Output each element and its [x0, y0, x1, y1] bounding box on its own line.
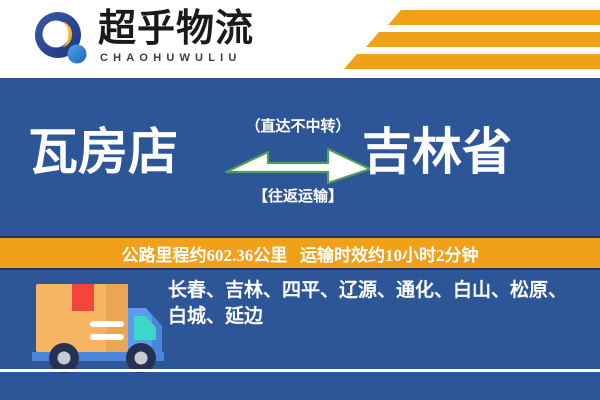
stripe-1 [388, 10, 600, 25]
route-row: 瓦房店 （直达不中转） 【往返运输】 吉林省 [0, 106, 600, 216]
delivery-truck-icon [28, 276, 168, 380]
coverage-city-list: 长春、吉林、四平、辽源、通化、白山、松原、白城、延边 [168, 278, 582, 330]
route-origin: 瓦房店 [28, 122, 178, 182]
banner-header: 超乎物流 CHAOHUWULIU [0, 0, 600, 78]
route-arrow-block: （直达不中转） 【往返运输】 [222, 106, 374, 218]
brand-name-en: CHAOHUWULIU [98, 51, 328, 65]
double-headed-arrow-icon [224, 146, 372, 186]
circle-crescent-logo-icon [33, 11, 89, 67]
header-stripes-decoration [338, 6, 600, 72]
bottom-divider [0, 369, 600, 372]
route-destination: 吉林省 [362, 122, 512, 182]
stripe-3 [344, 54, 600, 69]
logistics-route-banner: 超乎物流 CHAOHUWULIU 瓦房店 （直达不中转） 【往返运输】 吉林省 [0, 0, 600, 400]
route-note-roundtrip: 【往返运输】 [222, 188, 374, 206]
brand-name-cn: 超乎物流 [98, 9, 328, 49]
brand-lockup: 超乎物流 CHAOHUWULIU [98, 9, 328, 71]
route-info-text: 公路里程约602.36公里 运输时效约10小时2分钟 [122, 241, 479, 266]
stripe-2 [366, 32, 600, 47]
route-info-bar: 公路里程约602.36公里 运输时效约10小时2分钟 [0, 236, 600, 270]
main-blue-panel: 瓦房店 （直达不中转） 【往返运输】 吉林省 公路里程约602.36公里 运输时… [0, 78, 600, 400]
route-note-direct: （直达不中转） [222, 118, 374, 136]
